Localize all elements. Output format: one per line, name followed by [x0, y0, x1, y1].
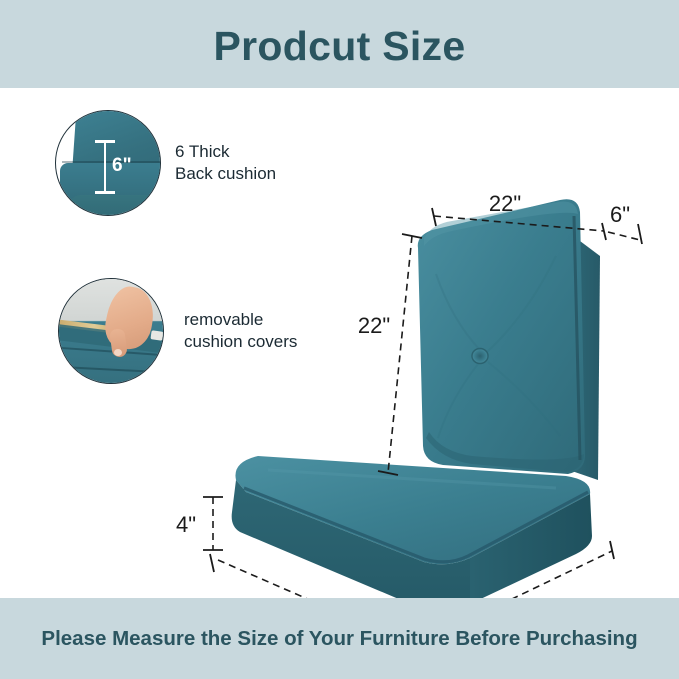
dimension-label: 4" [176, 512, 196, 537]
dimension-seat-thickness: 4" [176, 497, 223, 550]
dimension-label: 6" [610, 202, 630, 227]
thickness-marker-icon [104, 141, 106, 193]
feature-thickness-line2: Back cushion [175, 163, 276, 185]
header-banner: Prodcut Size [0, 0, 679, 88]
thickness-badge: 6" [112, 155, 132, 177]
feature-covers-line2: cushion covers [184, 331, 297, 353]
page-title: Prodcut Size [214, 22, 466, 67]
back-cushion-thickness-photo-icon: 6" [55, 110, 161, 216]
feature-thickness-line1: 6 Thick [175, 141, 276, 163]
feature-covers-label: removable cushion covers [184, 309, 297, 354]
footer-message: Please Measure the Size of Your Furnitur… [19, 625, 659, 652]
removable-zipper-cover-photo-icon [58, 278, 164, 384]
content-area: 22" 6" 22" 4" [0, 88, 679, 598]
dimension-back-thickness: 6" [608, 202, 642, 244]
seat-cushion [232, 456, 592, 598]
feature-thickness-label: 6 Thick Back cushion [175, 141, 276, 186]
dimension-label: 22" [358, 313, 390, 338]
feature-covers: removable cushion covers [58, 278, 297, 384]
feature-thickness: 6" 6 Thick Back cushion [55, 110, 276, 216]
back-cushion [418, 199, 600, 480]
feature-covers-line1: removable [184, 309, 297, 331]
dimension-label: 22" [489, 191, 521, 216]
dimension-back-height: 22" [358, 234, 422, 475]
footer-banner: Please Measure the Size of Your Furnitur… [0, 598, 679, 679]
